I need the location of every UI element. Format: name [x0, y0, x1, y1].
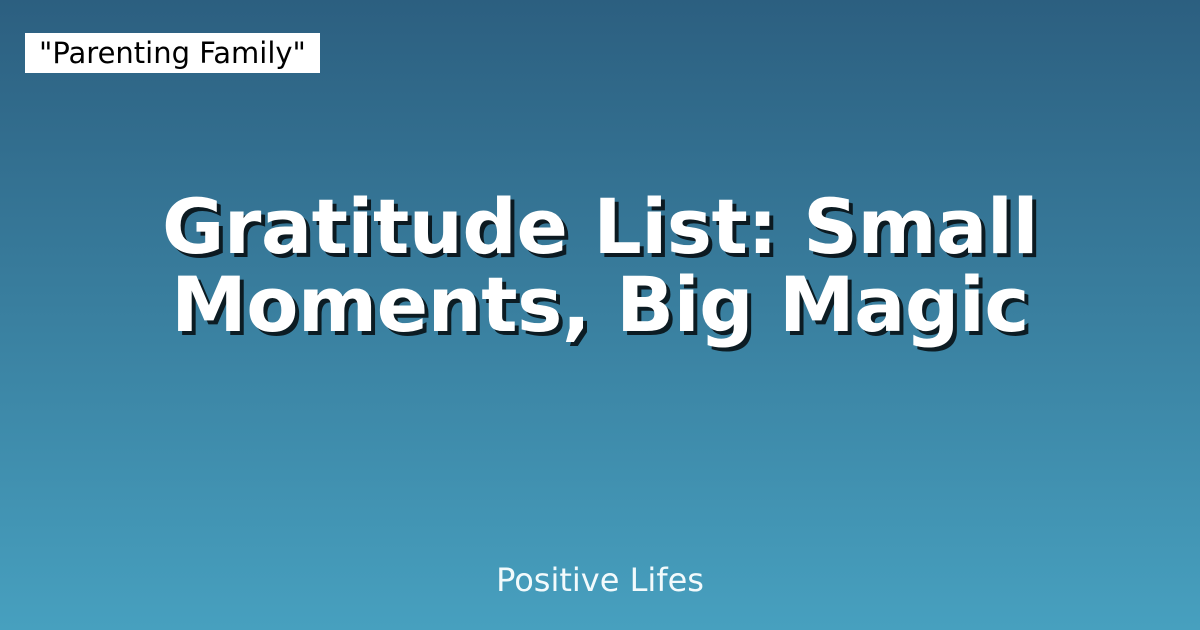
page-title: Gratitude List: Small Moments, Big Magic — [0, 188, 1200, 344]
title-line-1: Gratitude List: Small — [40, 188, 1160, 266]
brand-name-label: Positive Lifes — [496, 561, 704, 599]
category-badge-label: "Parenting Family" — [39, 39, 306, 68]
brand-footer: Positive Lifes — [0, 564, 1200, 596]
title-line-2: Moments, Big Magic — [40, 266, 1160, 344]
poster-canvas: "Parenting Family" Gratitude List: Small… — [0, 0, 1200, 630]
category-badge: "Parenting Family" — [25, 33, 320, 73]
